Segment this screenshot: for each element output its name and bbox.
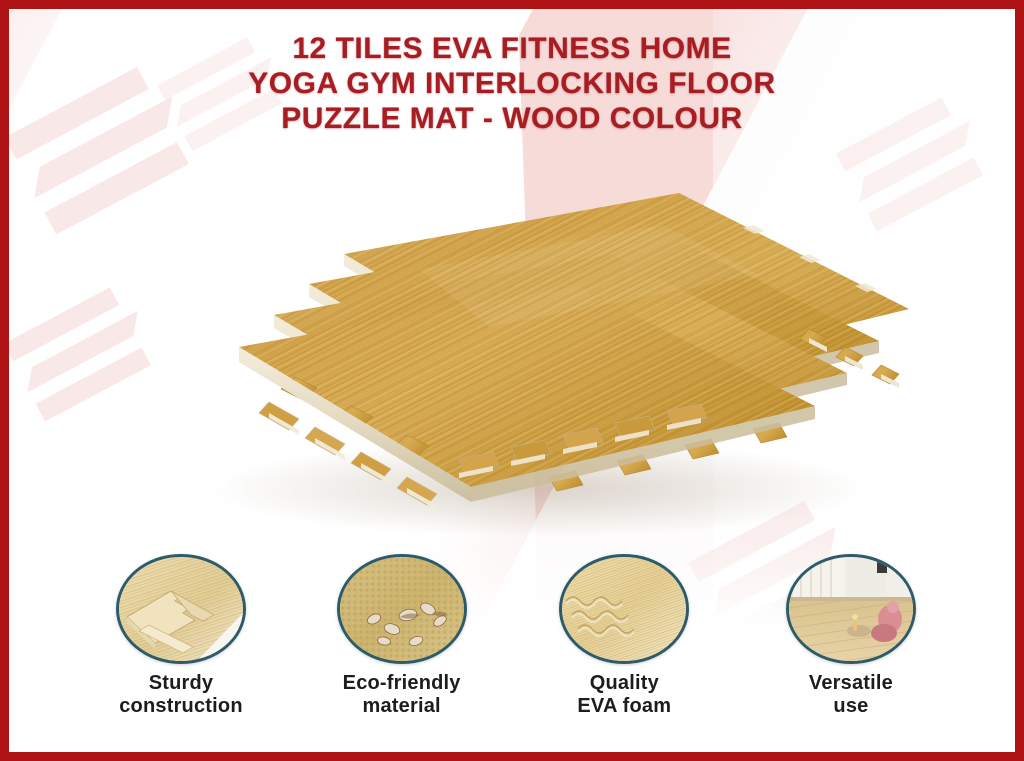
- feature-label: Quality EVA foam: [514, 672, 734, 718]
- room-with-mat-floor-icon: [786, 554, 916, 664]
- title-line-2: YOGA GYM INTERLOCKING FLOOR: [9, 66, 1015, 101]
- eva-foam-texture-icon: [337, 554, 467, 664]
- feature-versatile-use: Versatile use: [741, 554, 961, 718]
- title-line-3: PUZZLE MAT - WOOD COLOUR: [9, 101, 1015, 136]
- mat-stack-illustration: [119, 159, 919, 559]
- product-title: 12 TILES EVA FITNESS HOME YOGA GYM INTER…: [9, 31, 1015, 136]
- feature-quality-eva-foam: Quality EVA foam: [514, 554, 734, 718]
- feature-sturdy-construction: Sturdy construction: [71, 554, 291, 718]
- title-line-1: 12 TILES EVA FITNESS HOME: [9, 31, 1015, 66]
- feature-eco-friendly-material: Eco-friendly material: [292, 554, 512, 718]
- mat-edge-closeup-icon: [116, 554, 246, 664]
- feature-label: Sturdy construction: [71, 672, 291, 718]
- foam-tile-stack-icon: [559, 554, 689, 664]
- product-image: [119, 159, 919, 559]
- feature-badges: Sturdy construction: [49, 554, 975, 734]
- feature-label: Eco-friendly material: [292, 672, 512, 718]
- product-advertisement-poster: 12 TILES EVA FITNESS HOME YOGA GYM INTER…: [0, 0, 1024, 761]
- feature-label: Versatile use: [741, 672, 961, 718]
